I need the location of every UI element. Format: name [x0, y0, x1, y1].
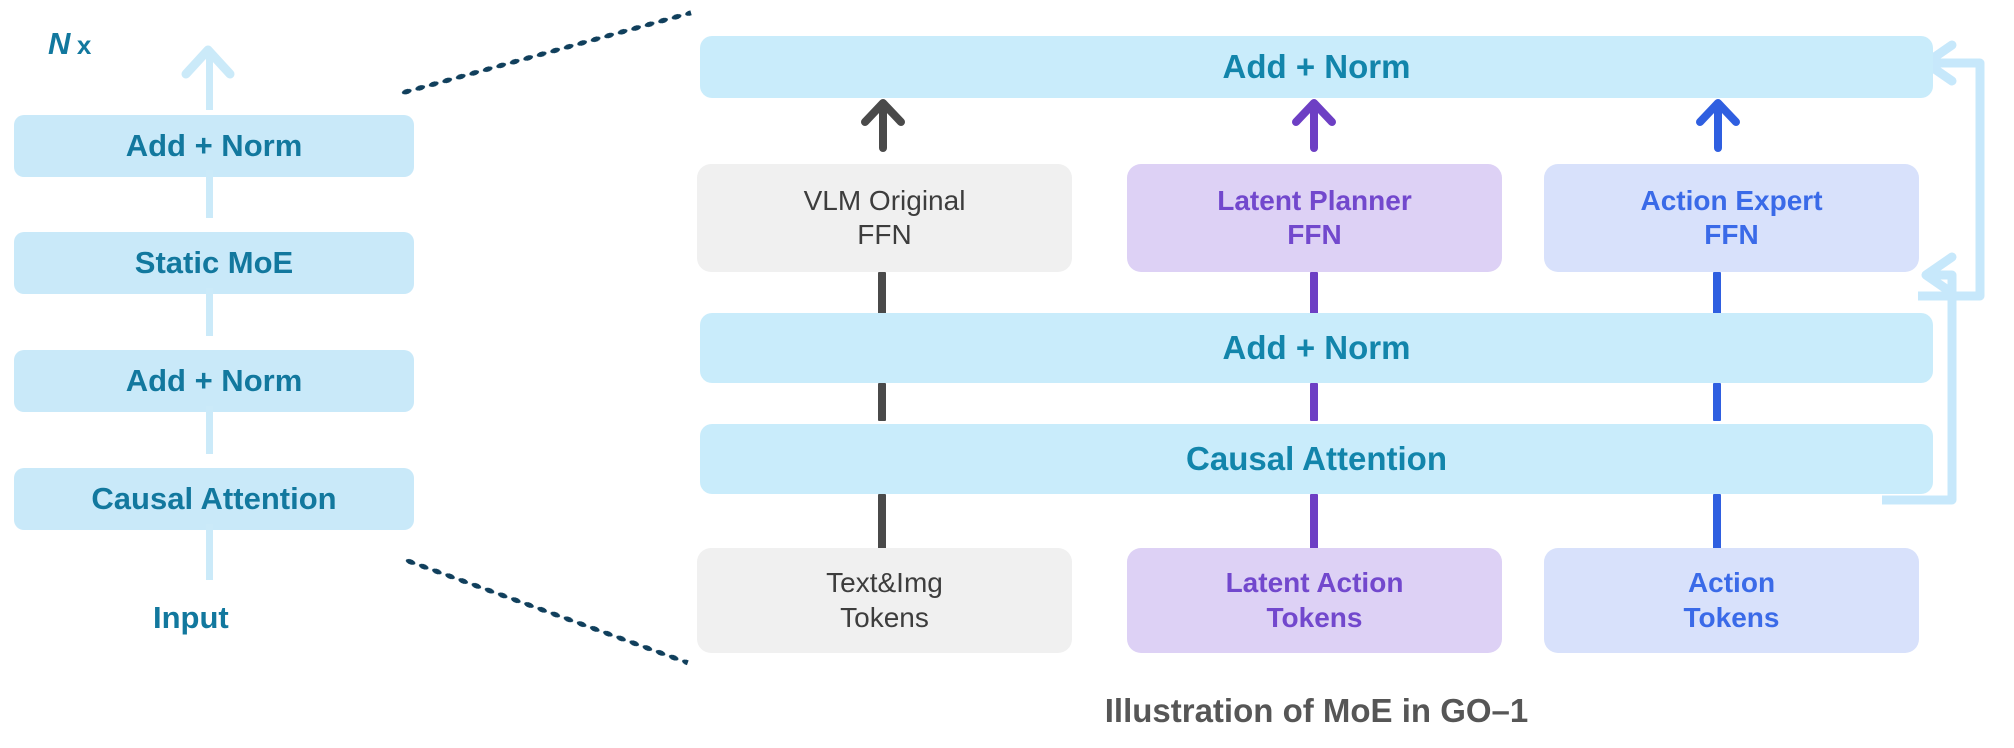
dotted-connector-top: [399, 9, 692, 96]
tokens-text-img: Text&ImgTokens: [697, 548, 1072, 653]
arrow-up-latent-planner-icon: [1286, 98, 1342, 150]
right-bar-add-norm-mid: Add + Norm: [700, 313, 1933, 383]
tokens-action-line1: Action: [1688, 567, 1775, 598]
tokens-text-img-line2: Tokens: [840, 602, 929, 633]
tokens-action-label: ActionTokens: [1684, 566, 1780, 634]
tokens-latent-action-label: Latent ActionTokens: [1226, 566, 1404, 634]
repeat-count-label: Nx: [48, 26, 92, 62]
stem-latent-action-tokens-to-attention: [1310, 494, 1318, 550]
figure-caption: Illustration of MoE in GO–1: [700, 692, 1933, 730]
stem-text-img-tokens-to-attention: [878, 494, 886, 550]
stem-planner-addnorm-to-attention: [1310, 383, 1318, 421]
left-connector-1: [206, 170, 213, 218]
left-block-static-moe: Static MoE: [14, 232, 414, 294]
expert-latent-planner-ffn-label: Latent PlannerFFN: [1217, 184, 1411, 252]
stem-action-addnorm-to-attention: [1713, 383, 1721, 421]
expert-action-line1: Action Expert: [1640, 185, 1822, 216]
arrow-up-action-expert-icon: [1690, 98, 1746, 150]
stem-action-tokens-to-attention: [1713, 494, 1721, 550]
tokens-action: ActionTokens: [1544, 548, 1919, 653]
left-block-causal-attention: Causal Attention: [14, 468, 414, 530]
expert-action-expert-ffn-label: Action ExpertFFN: [1640, 184, 1822, 252]
expert-vlm-original-ffn-label: VLM OriginalFFN: [804, 184, 966, 252]
tokens-latent-action: Latent ActionTokens: [1127, 548, 1502, 653]
right-bar-add-norm-top: Add + Norm: [700, 36, 1933, 98]
tokens-text-img-line1: Text&Img: [826, 567, 943, 598]
stem-vlm-addnorm-to-attention: [878, 383, 886, 421]
left-block-add-norm-top: Add + Norm: [14, 115, 414, 177]
expert-vlm-original-ffn: VLM OriginalFFN: [697, 164, 1072, 272]
left-connector-3: [206, 406, 213, 454]
expert-planner-line2: FFN: [1287, 219, 1341, 250]
figure-canvas: Nx Add + Norm Static MoE Add + Norm Caus…: [0, 0, 2014, 748]
repeat-symbol: N: [48, 26, 71, 61]
tokens-latent-action-line2: Tokens: [1267, 602, 1363, 633]
tokens-text-img-label: Text&ImgTokens: [826, 566, 943, 634]
expert-action-expert-ffn: Action ExpertFFN: [1544, 164, 1919, 272]
repeat-multiplier: x: [77, 30, 92, 60]
arrow-up-icon: [180, 40, 236, 90]
tokens-latent-action-line1: Latent Action: [1226, 567, 1404, 598]
right-bar-causal-attention: Causal Attention: [700, 424, 1933, 494]
left-block-add-norm-bottom: Add + Norm: [14, 350, 414, 412]
expert-action-line2: FFN: [1704, 219, 1758, 250]
arrow-up-vlm-icon: [855, 98, 911, 150]
tokens-action-line2: Tokens: [1684, 602, 1780, 633]
expert-latent-planner-ffn: Latent PlannerFFN: [1127, 164, 1502, 272]
expert-vlm-line2: FFN: [857, 219, 911, 250]
left-connector-4: [206, 524, 213, 580]
expert-vlm-line1: VLM Original: [804, 185, 966, 216]
left-connector-2: [206, 288, 213, 336]
expert-planner-line1: Latent Planner: [1217, 185, 1411, 216]
input-label: Input: [153, 600, 229, 636]
dotted-connector-bottom: [403, 556, 689, 666]
